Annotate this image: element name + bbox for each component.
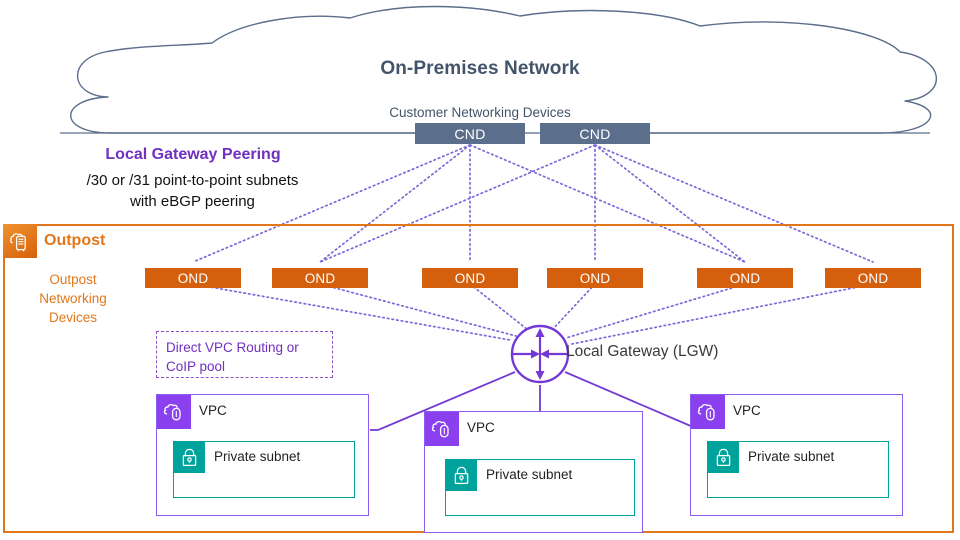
outpost-rack-icon xyxy=(7,228,33,254)
outpost-icon-tab xyxy=(3,224,37,258)
ond-box-1-label: OND xyxy=(178,271,209,286)
ond-box-5[interactable]: OND xyxy=(697,268,793,288)
private-subnet-3-icon-tab xyxy=(708,442,739,473)
ond-box-3-label: OND xyxy=(455,271,486,286)
peering-description-line-1: /30 or /31 point-to-point subnets xyxy=(40,170,345,191)
vpc-cloud-icon xyxy=(695,399,721,425)
routing-note-line-1: Direct VPC Routing or xyxy=(166,338,323,357)
vpc-2-label: VPC xyxy=(467,420,495,435)
ond-box-2[interactable]: OND xyxy=(272,268,368,288)
cnd-box-1[interactable]: CND xyxy=(415,123,525,144)
ond-box-6[interactable]: OND xyxy=(825,268,921,288)
ond-box-4[interactable]: OND xyxy=(547,268,643,288)
vpc-3-icon-tab xyxy=(691,395,725,429)
private-subnet-1-icon-tab xyxy=(174,442,205,473)
private-subnet-1-label: Private subnet xyxy=(214,449,300,464)
private-subnet-2-icon-tab xyxy=(446,460,477,491)
ond-caption-line-2: Networking xyxy=(18,289,128,308)
vpc-box-2[interactable]: VPC Private subnet xyxy=(424,411,643,533)
cnd-box-2[interactable]: CND xyxy=(540,123,650,144)
diagram-canvas: On-Premises Network Customer Networking … xyxy=(0,0,960,540)
ond-box-4-label: OND xyxy=(580,271,611,286)
private-subnet-3-label: Private subnet xyxy=(748,449,834,464)
direct-vpc-routing-note: Direct VPC Routing or CoIP pool xyxy=(156,331,333,378)
local-gateway-peering-description: /30 or /31 point-to-point subnets with e… xyxy=(40,170,345,212)
outpost-networking-devices-caption: Outpost Networking Devices xyxy=(18,270,128,327)
lock-icon xyxy=(712,446,735,469)
cnd-box-1-label: CND xyxy=(454,126,485,142)
customer-networking-devices-caption: Customer Networking Devices xyxy=(0,105,960,120)
outpost-title: Outpost xyxy=(44,232,105,250)
private-subnet-box-1[interactable]: Private subnet xyxy=(173,441,355,498)
ond-box-2-label: OND xyxy=(305,271,336,286)
vpc-2-icon-tab xyxy=(425,412,459,446)
routing-note-line-2: CoIP pool xyxy=(166,357,323,376)
private-subnet-box-2[interactable]: Private subnet xyxy=(445,459,635,516)
local-gateway-label: Local Gateway (LGW) xyxy=(566,343,718,361)
vpc-1-icon-tab xyxy=(157,395,191,429)
cnd-box-2-label: CND xyxy=(579,126,610,142)
lock-icon xyxy=(450,464,473,487)
lock-icon xyxy=(178,446,201,469)
vpc-cloud-icon xyxy=(161,399,187,425)
ond-box-5-label: OND xyxy=(730,271,761,286)
private-subnet-2-label: Private subnet xyxy=(486,467,572,482)
vpc-box-3[interactable]: VPC Private subnet xyxy=(690,394,903,516)
ond-box-1[interactable]: OND xyxy=(145,268,241,288)
peering-description-line-2: with eBGP peering xyxy=(40,191,345,212)
ond-box-6-label: OND xyxy=(858,271,889,286)
ond-caption-line-3: Devices xyxy=(18,308,128,327)
local-gateway-peering-title: Local Gateway Peering xyxy=(48,146,338,164)
ond-caption-line-1: Outpost xyxy=(18,270,128,289)
vpc-cloud-icon xyxy=(429,416,455,442)
vpc-box-1[interactable]: VPC Private subnet xyxy=(156,394,369,516)
on-premises-network-title: On-Premises Network xyxy=(0,58,960,80)
ond-box-3[interactable]: OND xyxy=(422,268,518,288)
vpc-3-label: VPC xyxy=(733,403,761,418)
private-subnet-box-3[interactable]: Private subnet xyxy=(707,441,889,498)
vpc-1-label: VPC xyxy=(199,403,227,418)
